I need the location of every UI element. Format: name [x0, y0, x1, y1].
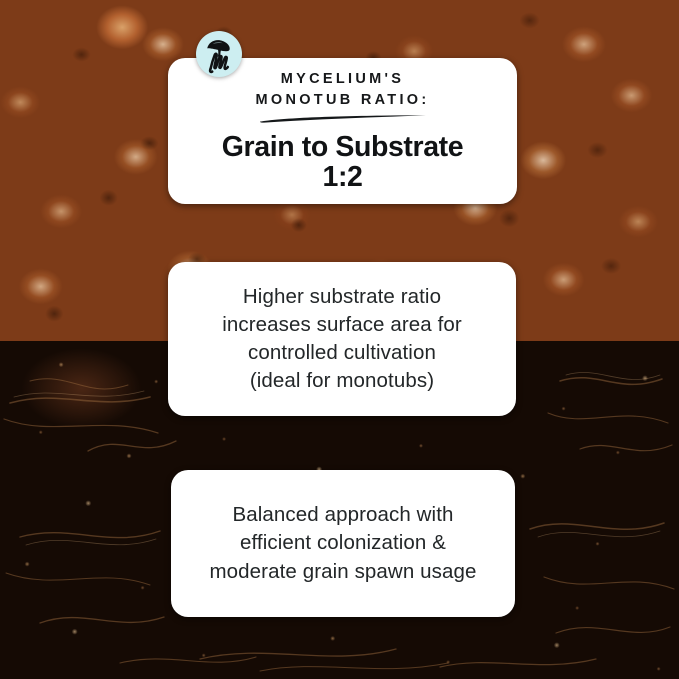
- infographic-canvas: MYCELIUM'S MONOTUB RATIO: Grain to Subst…: [0, 0, 679, 679]
- mushroom-monogram-icon: [196, 31, 242, 77]
- summary-line-1: Balanced approach with: [210, 501, 477, 529]
- eyebrow-line-1: MYCELIUM'S: [281, 71, 404, 87]
- eyebrow-line-2: MONOTUB RATIO:: [256, 90, 430, 111]
- title-swash-divider-icon: [258, 114, 428, 125]
- headline-heading: Grain to Substrate 1:2: [222, 127, 463, 193]
- summary-line-2: efficient colonization &: [210, 529, 477, 557]
- benefit-line-4: (ideal for monotubs): [222, 367, 462, 395]
- summary-card: Balanced approach with efficient coloniz…: [171, 470, 515, 617]
- benefit-card-text: Higher substrate ratio increases surface…: [206, 283, 478, 395]
- summary-card-text: Balanced approach with efficient coloniz…: [194, 501, 493, 585]
- title-card: MYCELIUM'S MONOTUB RATIO: Grain to Subst…: [168, 58, 517, 204]
- benefit-line-3: controlled cultivation: [222, 339, 462, 367]
- brand-logo-badge: [196, 31, 242, 77]
- headline-line-1: Grain to Substrate: [222, 131, 463, 163]
- benefit-line-1: Higher substrate ratio: [222, 283, 462, 311]
- eyebrow-heading: MYCELIUM'S MONOTUB RATIO:: [242, 69, 444, 110]
- benefit-card: Higher substrate ratio increases surface…: [168, 262, 516, 416]
- benefit-line-2: increases surface area for: [222, 311, 462, 339]
- divider-container: [168, 114, 517, 125]
- headline-ratio-value: 1:2: [222, 162, 463, 192]
- summary-line-3: moderate grain spawn usage: [210, 558, 477, 586]
